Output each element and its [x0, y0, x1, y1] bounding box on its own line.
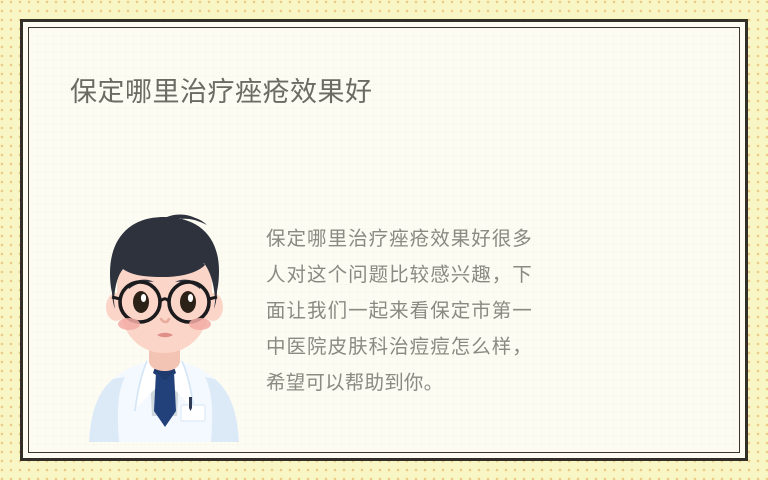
article-frame-inner: 保定哪里治疗痤疮效果好 — [28, 27, 740, 453]
page-background: 保定哪里治疗痤疮效果好 — [0, 0, 768, 480]
pen-icon — [189, 397, 192, 411]
page-title: 保定哪里治疗痤疮效果好 — [70, 74, 373, 110]
blush-left — [118, 318, 140, 330]
article-frame-outer: 保定哪里治疗痤疮效果好 — [20, 19, 748, 461]
article-content-row: 保定哪里治疗痤疮效果好很多人对这个问题比较感兴趣，下面让我们一起来看保定市第一中… — [29, 188, 739, 448]
doctor-illustration — [77, 211, 252, 442]
blush-right — [189, 318, 211, 330]
article-body-text: 保定哪里治疗痤疮效果好很多人对这个问题比较感兴趣，下面让我们一起来看保定市第一中… — [266, 221, 532, 401]
